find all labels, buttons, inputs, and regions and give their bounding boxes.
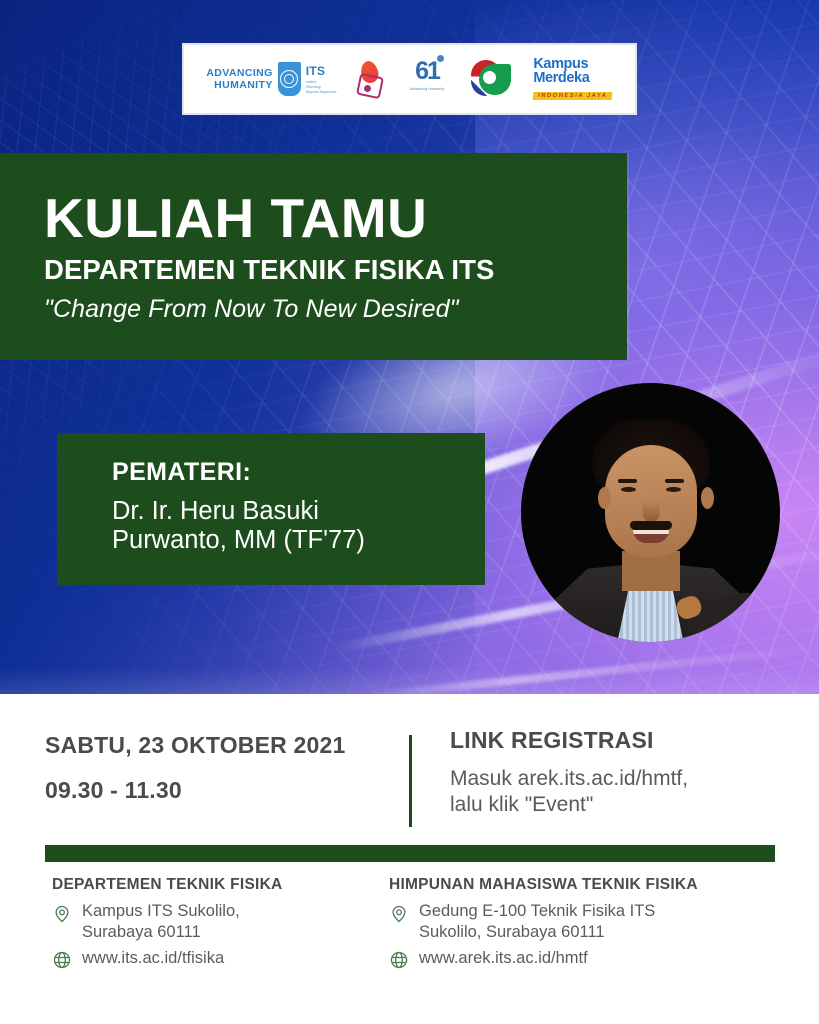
portrait-eye xyxy=(621,487,636,492)
footer-student-association: HIMPUNAN MAHASISWA TEKNIK FISIKA Gedung … xyxy=(389,877,799,976)
schedule-block: SABTU, 23 OKTOBER 2021 09.30 - 11.30 xyxy=(45,734,375,802)
event-poster: ADVANCING HUMANITY ITS InstitutTeknologi… xyxy=(0,0,819,1024)
portrait-eyebrow xyxy=(665,479,684,483)
page-title: KULIAH TAMU xyxy=(44,191,627,246)
flame-icon xyxy=(357,61,383,97)
logo-bar: ADVANCING HUMANITY ITS InstitutTeknologi… xyxy=(182,43,637,115)
title-panel-edge xyxy=(627,153,629,360)
footer-divider-bar xyxy=(45,845,775,862)
footer-association-website[interactable]: www.arek.its.ac.id/hmtf xyxy=(389,948,799,972)
title-quote: "Change From Now To New Desired" xyxy=(44,296,627,324)
speaker-name-line1: Dr. Ir. Heru Basuki xyxy=(112,497,319,525)
event-time: 09.30 - 11.30 xyxy=(45,779,375,802)
footer-department-title: DEPARTEMEN TEKNIK FISIKA xyxy=(52,877,392,893)
registration-heading: LINK REGISTRASI xyxy=(450,729,780,752)
speaker-portrait xyxy=(521,383,780,642)
section-vertical-divider xyxy=(409,735,412,827)
globe-icon xyxy=(52,950,72,972)
footer-association-address: Gedung E-100 Teknik Fisika ITS Sukolilo,… xyxy=(389,901,799,945)
footer-department: DEPARTEMEN TEKNIK FISIKA Kampus ITS Suko… xyxy=(52,877,392,976)
globe-icon xyxy=(389,950,409,972)
its-wordmark-sub: InstitutTeknologiSepuluh Nopember xyxy=(306,80,337,95)
portrait-neck xyxy=(622,551,680,591)
hero-bottom-fade xyxy=(0,668,819,694)
location-pin-icon xyxy=(52,903,72,925)
its-wordmark: ITS InstitutTeknologiSepuluh Nopember xyxy=(306,63,337,95)
registration-line2: lalu klik "Event" xyxy=(450,793,593,816)
speaker-panel: PEMATERI: Dr. Ir. Heru Basuki Purwanto, … xyxy=(57,433,485,585)
footer-department-address: Kampus ITS Sukolilo, Surabaya 60111 xyxy=(52,901,392,945)
portrait-eye xyxy=(666,487,681,492)
portrait-eyebrow xyxy=(618,479,637,483)
footer-department-website[interactable]: www.its.ac.id/tfisika xyxy=(52,948,392,972)
page-subtitle: DEPARTEMEN TEKNIK FISIKA ITS xyxy=(44,256,627,284)
advancing-humanity-text: ADVANCING HUMANITY xyxy=(206,67,272,92)
anniversary-61-icon: 61 Advancing Humanity xyxy=(404,59,450,99)
logo-kampus-gemilang xyxy=(471,60,513,98)
location-pin-icon xyxy=(389,903,409,925)
event-date: SABTU, 23 OKTOBER 2021 xyxy=(45,734,375,757)
portrait-moustache xyxy=(630,521,672,530)
footer-association-website-text[interactable]: www.arek.its.ac.id/hmtf xyxy=(419,948,588,970)
logo-advancing-humanity-its: ADVANCING HUMANITY ITS InstitutTeknologi… xyxy=(206,62,336,96)
its-shield-icon xyxy=(278,62,301,96)
logo-kampus-merdeka: Kampus Merdeka INDONESIA JAYA xyxy=(533,57,612,101)
speaker-name: Dr. Ir. Heru Basuki Purwanto, MM (TF'77) xyxy=(112,497,485,554)
kampus-merdeka-wordmark: Kampus Merdeka INDONESIA JAYA xyxy=(533,57,612,101)
logo-its-61-anniversary: 61 Advancing Humanity xyxy=(404,59,450,99)
portrait-ear xyxy=(598,487,611,509)
g-mark-icon xyxy=(471,60,513,98)
logo-its-flame xyxy=(357,61,383,97)
footer-department-address-text: Kampus ITS Sukolilo, Surabaya 60111 xyxy=(82,901,240,945)
registration-block: LINK REGISTRASI Masuk arek.its.ac.id/hmt… xyxy=(450,729,780,819)
speaker-label: PEMATERI: xyxy=(112,460,485,485)
portrait-ear xyxy=(701,487,714,509)
portrait-nose xyxy=(642,501,659,522)
registration-instructions: Masuk arek.its.ac.id/hmtf, lalu klik "Ev… xyxy=(450,766,780,819)
footer-association-title: HIMPUNAN MAHASISWA TEKNIK FISIKA xyxy=(389,877,799,893)
speaker-name-line2: Purwanto, MM (TF'77) xyxy=(112,526,365,554)
footer-department-website-text[interactable]: www.its.ac.id/tfisika xyxy=(82,948,224,970)
registration-line1[interactable]: Masuk arek.its.ac.id/hmtf, xyxy=(450,767,688,790)
title-panel: KULIAH TAMU DEPARTEMEN TEKNIK FISIKA ITS… xyxy=(0,153,627,360)
footer-association-address-text: Gedung E-100 Teknik Fisika ITS Sukolilo,… xyxy=(419,901,655,945)
